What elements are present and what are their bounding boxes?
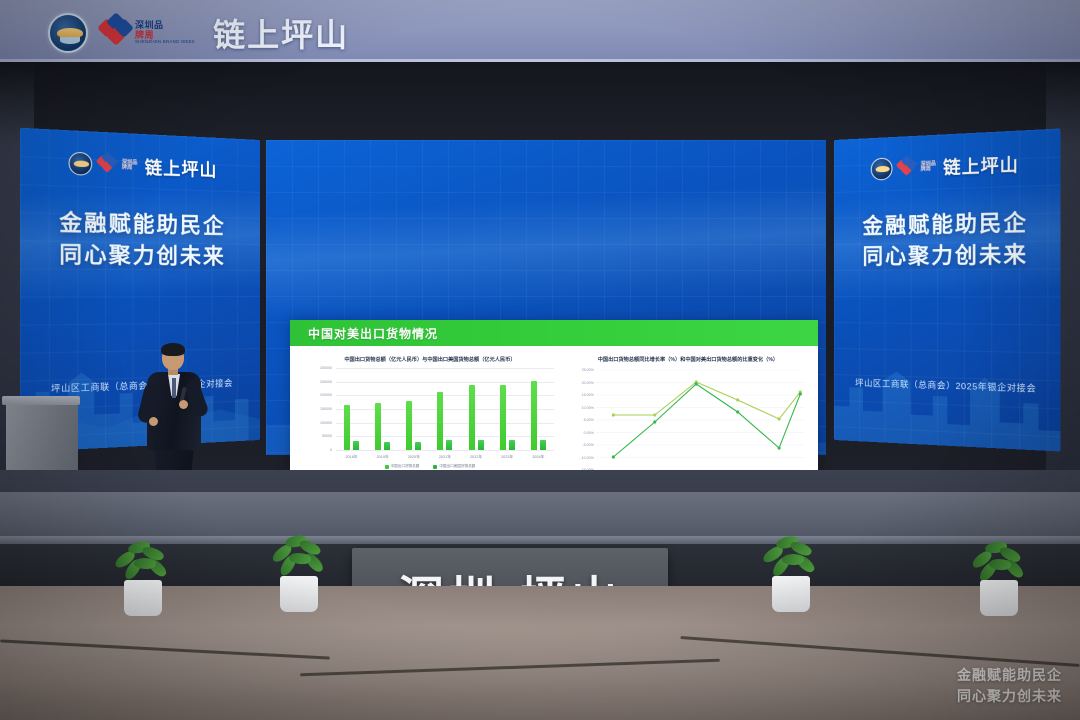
bar-total-2022 xyxy=(469,385,475,450)
y-tick: 20.00% xyxy=(582,381,594,385)
header-title: 链上坪山 xyxy=(213,10,349,56)
shenzhen-brand-week-logo: 深圳品 牌周 SHENZHEN BRAND WEEK xyxy=(100,18,195,48)
watermark-line-1: 金融赋能助民企 xyxy=(957,665,1062,685)
x-tick: 2023年 xyxy=(492,451,523,464)
bar-group xyxy=(429,368,460,450)
bar-chart-title: 中国出口货物总额（亿元人民币）与中国出口美国货物总额（亿元人民币） xyxy=(298,350,562,366)
y-tick: 50000 xyxy=(322,434,332,438)
y-tick: 25.00% xyxy=(582,368,594,372)
plant-pot xyxy=(772,576,810,612)
podium-top-surface xyxy=(2,396,80,405)
bar-total-2018 xyxy=(344,405,350,450)
y-tick: 100000 xyxy=(320,421,332,425)
bar-group xyxy=(398,368,429,450)
x-tick: 2019年 xyxy=(367,451,398,464)
y-tick: 5.00% xyxy=(584,418,594,422)
legend-item: 中国出口货物总额 xyxy=(385,464,420,469)
line-chart-plot: 25.00% 20.00% 15.00% 10.00% 5.00% 0.00% … xyxy=(568,368,808,486)
bar-total-2019 xyxy=(375,403,381,450)
legend-label: 中国出口美国货物总额 xyxy=(439,464,475,469)
skyline-graphic-icon xyxy=(834,326,1061,452)
plant-pot xyxy=(980,580,1018,616)
x-tick: 2024年 xyxy=(523,451,554,464)
y-tick: 300000 xyxy=(320,366,332,370)
line-chart-area xyxy=(596,370,804,470)
bar-us-2024 xyxy=(540,440,546,450)
brand-diamonds-icon xyxy=(98,154,117,174)
bar-group xyxy=(336,368,367,450)
header-logo-group: 深圳品 牌周 SHENZHEN BRAND WEEK 链上坪山 xyxy=(48,10,349,56)
potted-plant xyxy=(112,528,174,616)
watermark-line-2: 同心聚力创未来 xyxy=(957,686,1062,706)
legend-swatch-icon xyxy=(385,465,389,469)
presenter-tie xyxy=(172,378,176,398)
plant-pot xyxy=(124,580,162,616)
plant-leaves xyxy=(112,528,174,586)
bar-us-2020 xyxy=(415,442,421,451)
x-tick: 2018年 xyxy=(336,451,367,464)
y-tick: 10.00% xyxy=(582,406,594,410)
potted-plant xyxy=(268,524,330,612)
y-tick: 150000 xyxy=(320,407,332,411)
bar-chart-x-axis: 2018年 2019年 2020年 2021年 2022年 2023年 2024… xyxy=(336,451,554,464)
y-tick: -10.00% xyxy=(580,456,593,460)
legend-label: 中国出口货物总额 xyxy=(391,464,420,469)
bar-chart-axes xyxy=(336,368,554,450)
y-tick: 0.00% xyxy=(584,431,594,435)
bar-group xyxy=(523,368,554,450)
bar-group xyxy=(492,368,523,450)
line-chart-y-axis: 25.00% 20.00% 15.00% 10.00% 5.00% 0.00% … xyxy=(568,370,596,470)
plant-pot xyxy=(280,576,318,612)
x-tick: 2022年 xyxy=(461,451,492,464)
bar-us-2023 xyxy=(509,440,515,450)
bar-us-2022 xyxy=(478,440,484,450)
bar-us-2018 xyxy=(353,441,359,450)
potted-plant xyxy=(968,528,1030,616)
legend-item: 中国出口美国货物总额 xyxy=(433,464,475,469)
bar-group xyxy=(461,368,492,450)
x-tick: 2021年 xyxy=(429,451,460,464)
event-header-band: 深圳品 牌周 SHENZHEN BRAND WEEK 链上坪山 xyxy=(0,0,1080,62)
slide-title-bar: 中国对美出口货物情况 xyxy=(290,320,818,346)
y-tick: 250000 xyxy=(320,380,332,384)
bar-total-2021 xyxy=(437,392,443,450)
bar-us-2019 xyxy=(384,442,390,450)
slide-title: 中国对美出口货物情况 xyxy=(308,325,438,342)
bar-group xyxy=(367,368,398,450)
plant-leaves xyxy=(268,524,330,582)
y-tick: 15.00% xyxy=(582,393,594,397)
screenshot-root: 深圳品 牌周 SHENZHEN BRAND WEEK 链上坪山 深圳品 牌周 xyxy=(0,0,1080,720)
x-tick: 2020年 xyxy=(398,451,429,464)
brand-text: 深圳品 牌周 SHENZHEN BRAND WEEK xyxy=(135,21,195,45)
brand-pinyin: SHENZHEN BRAND WEEK xyxy=(135,40,195,45)
plant-leaves xyxy=(760,524,822,582)
bar-chart-plot: 0 50000 100000 150000 200000 250000 3000… xyxy=(302,368,558,464)
plant-leaves xyxy=(968,528,1030,586)
presenter-hand-left xyxy=(149,417,158,426)
bar-total-2023 xyxy=(500,385,506,450)
potted-plant xyxy=(760,524,822,612)
presenter-hand-right xyxy=(179,400,188,409)
bottom-right-watermark: 金融赋能助民企 同心聚力创未来 xyxy=(957,665,1062,706)
bar-us-2021 xyxy=(446,440,452,450)
bar-series-group xyxy=(336,368,554,450)
y-tick: -5.00% xyxy=(582,443,593,447)
brand-diamonds-icon xyxy=(897,158,915,177)
legend-swatch-icon xyxy=(433,465,437,469)
led-panel-right: 深圳品 牌周 链上坪山 金融赋能助民企 同心聚力创未来 坪山区工商联（总商会）2… xyxy=(834,128,1061,451)
brand-diamonds-icon xyxy=(100,18,130,48)
y-tick: 0 xyxy=(330,448,332,452)
bar-total-2024 xyxy=(531,381,537,451)
bar-chart-y-axis: 0 50000 100000 150000 200000 250000 3000… xyxy=(302,368,334,450)
bar-total-2020 xyxy=(406,401,412,450)
y-tick: 200000 xyxy=(320,393,332,397)
bar-chart-legend: 中国出口货物总额 中国出口美国货物总额 xyxy=(298,464,562,469)
panel-glow xyxy=(20,187,260,306)
line-chart-title: 中国出口货物总额同比增长率（%）和中国对美出口货物总额的比重变化（%） xyxy=(566,350,810,366)
pingshan-emblem-icon xyxy=(871,157,893,180)
pingshan-district-emblem-icon xyxy=(48,13,88,53)
presenter-hair xyxy=(161,343,185,356)
